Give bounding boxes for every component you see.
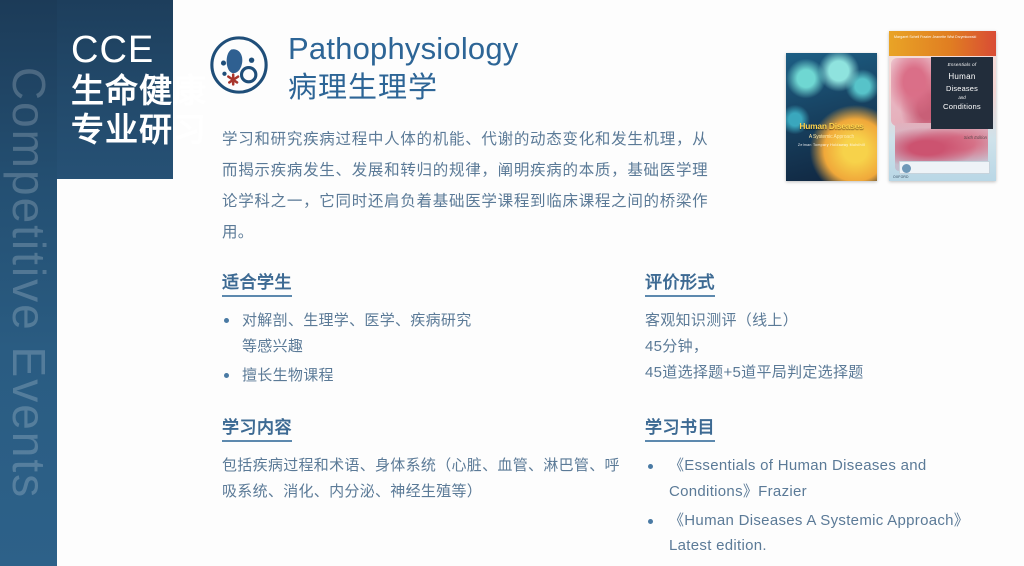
book-left-subtitle: A Systemic Approach: [786, 134, 877, 140]
book-right-publisher: OXFORD: [893, 175, 909, 179]
book-right-title-panel: Essentials of Human Diseases and Conditi…: [931, 57, 993, 129]
book-right-seal: [902, 164, 911, 173]
section-heading-booklist: 学习书目: [645, 413, 715, 442]
book-left-authors: Zelman Tompary Holdaway Mulvihill: [786, 143, 877, 147]
rail-vertical-text: Competitive Events: [6, 67, 52, 499]
list-item-line-cont: 等感兴趣: [242, 334, 622, 360]
assessment-line-2: 45分钟，: [645, 334, 1015, 360]
book-right-edition: Sixth Edition: [964, 135, 987, 140]
subject-title-cn: 病理生理学: [288, 71, 519, 106]
list-item: 《Essentials of Human Diseases and Condit…: [645, 453, 1020, 505]
bullet-dot-icon: [648, 519, 653, 524]
book-right-title-line-5: Conditions: [931, 102, 993, 111]
list-item: 对解剖、生理学、医学、疾病研究 等感兴趣: [222, 308, 622, 360]
assessment-line-3: 45道选择题+5道平局判定选择题: [645, 360, 1015, 386]
students-list: 对解剖、生理学、医学、疾病研究 等感兴趣 擅长生物课程: [222, 308, 622, 388]
book-title-line-2: Conditions》Frazier: [669, 479, 1020, 505]
book-title-line-1: 《Essentials of Human Diseases and: [669, 453, 1020, 479]
assessment-line-1: 客观知识测评（线上）: [645, 308, 1015, 334]
subject-title-en: Pathophysiology: [288, 32, 519, 67]
book-right-top-band: Margaret Schell Frazier Jeanette Wist Dr…: [889, 31, 996, 56]
section-booklist: 学习书目 《Essentials of Human Diseases and C…: [645, 413, 1020, 562]
bullet-dot-icon: [224, 373, 229, 378]
book-right-footer-bar: [899, 161, 990, 174]
brand-line-1: 生命健康: [71, 72, 207, 111]
book-right-authors: Margaret Schell Frazier Jeanette Wist Dr…: [894, 35, 976, 41]
bullet-dot-icon: [224, 318, 229, 323]
content-body: 包括疾病过程和术语、身体系统（心脏、血管、淋巴管、呼吸系统、消化、内分泌、神经生…: [222, 453, 634, 505]
brand-abbrev: CCE: [71, 30, 154, 71]
cell-pathogen-icon: [208, 34, 270, 96]
section-suitable-students: 适合学生 对解剖、生理学、医学、疾病研究 等感兴趣 擅长生物课程: [222, 268, 622, 391]
book-left-title: Human Diseases: [786, 122, 877, 131]
slide-root: Competitive Events CCE 生命健康 专业研习 Pathoph…: [0, 0, 1024, 566]
list-item-line: 擅长生物课程: [242, 363, 622, 389]
section-heading-assessment: 评价形式: [645, 268, 715, 297]
bullet-dot-icon: [648, 464, 653, 469]
subject-header: Pathophysiology 病理生理学: [208, 32, 519, 106]
list-item-line: 对解剖、生理学、医学、疾病研究: [242, 308, 622, 334]
book-right-title-line-1: Essentials of: [931, 62, 993, 67]
brand-line-2: 专业研习: [71, 111, 207, 150]
left-brand-rail: Competitive Events: [0, 0, 57, 566]
subject-description: 学习和研究疾病过程中人体的机能、代谢的动态变化和发生机理，从而揭示疾病发生、发展…: [222, 124, 708, 248]
section-learning-content: 学习内容 包括疾病过程和术语、身体系统（心脏、血管、淋巴管、呼吸系统、消化、内分…: [222, 413, 634, 505]
book-cover-human-diseases: Human Diseases A Systemic Approach Zelma…: [786, 53, 877, 181]
list-item: 擅长生物课程: [222, 363, 622, 389]
booklist: 《Essentials of Human Diseases and Condit…: [645, 453, 1020, 559]
section-heading-content: 学习内容: [222, 413, 292, 442]
book-right-title-line-3: Diseases: [931, 84, 993, 93]
book-right-title-line-4: and: [931, 95, 993, 100]
assessment-body: 客观知识测评（线上） 45分钟， 45道选择题+5道平局判定选择题: [645, 308, 1015, 385]
brand-block: CCE 生命健康 专业研习: [57, 0, 217, 179]
list-item: 《Human Diseases A Systemic Approach》 Lat…: [645, 508, 1020, 560]
section-heading-students: 适合学生: [222, 268, 292, 297]
book-cover-images: Human Diseases A Systemic Approach Zelma…: [786, 31, 996, 181]
section-assessment-format: 评价形式 客观知识测评（线上） 45分钟， 45道选择题+5道平局判定选择题: [645, 268, 1015, 385]
book-cover-essentials: Margaret Schell Frazier Jeanette Wist Dr…: [889, 31, 996, 181]
book-title-line-1: 《Human Diseases A Systemic Approach》: [669, 508, 1020, 534]
book-right-title-line-2: Human: [931, 72, 993, 81]
title-group: Pathophysiology 病理生理学: [288, 32, 519, 106]
book-title-line-2: Latest edition.: [669, 533, 1020, 559]
